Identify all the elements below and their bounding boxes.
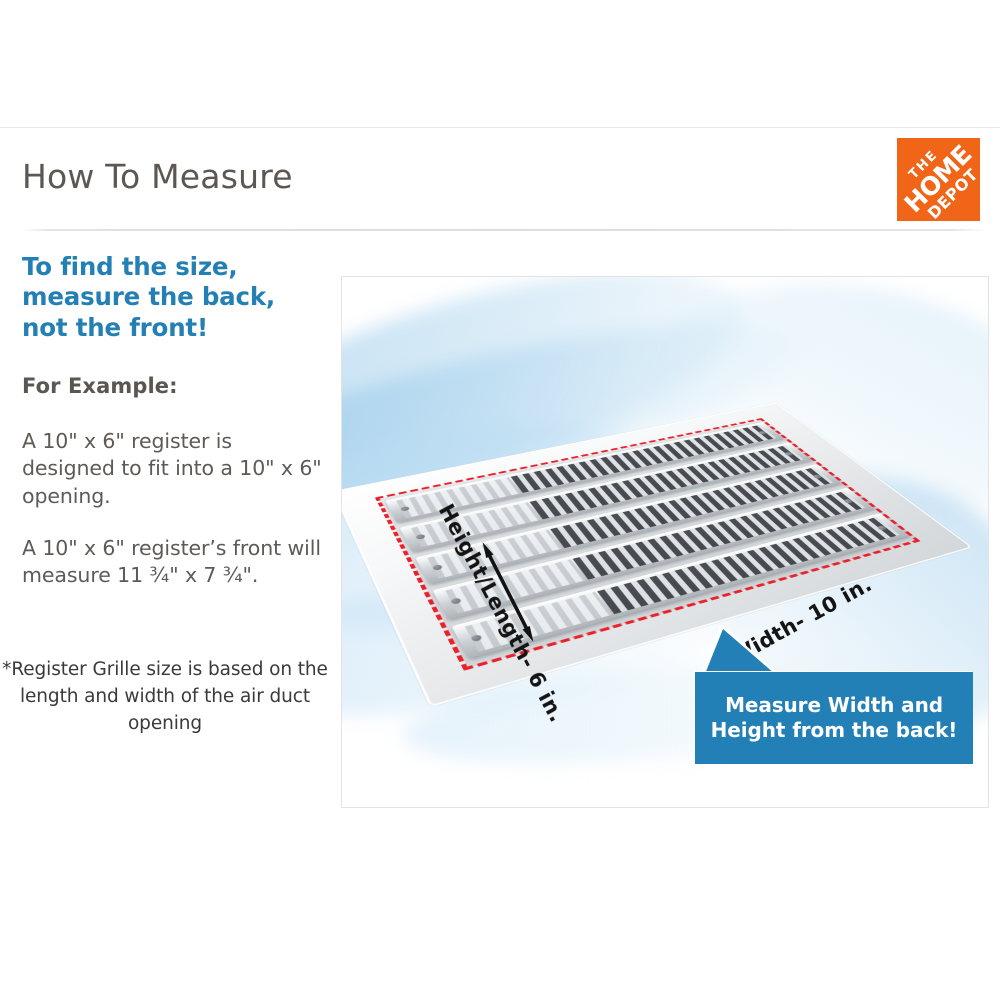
for-example-subheading: For Example: bbox=[22, 374, 178, 398]
top-divider bbox=[0, 127, 1000, 128]
example-paragraph-1: A 10" x 6" register is designed to fit i… bbox=[22, 428, 322, 510]
footnote-text: *Register Grille size is based on the le… bbox=[0, 656, 330, 737]
header-divider bbox=[22, 229, 988, 231]
home-depot-logo: THE HOME DEPOT bbox=[897, 138, 980, 221]
example-paragraph-2: A 10" x 6" register’s front will measure… bbox=[22, 535, 322, 590]
callout-box: Measure Width and Height from the back! bbox=[695, 672, 973, 764]
page-title: How To Measure bbox=[22, 157, 293, 196]
callout-pointer bbox=[705, 629, 775, 674]
lead-heading: To find the size, measure the back, not … bbox=[22, 252, 322, 343]
